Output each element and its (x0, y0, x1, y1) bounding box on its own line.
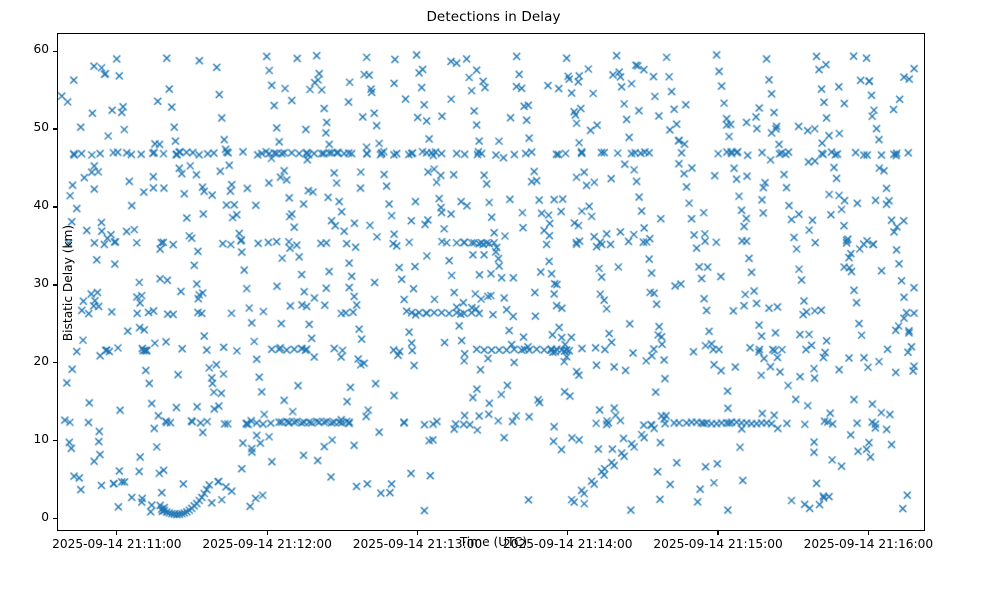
y-tick-label: 10 (33, 432, 49, 446)
y-tick-label: 20 (33, 354, 49, 368)
y-tick-label: 30 (33, 276, 49, 290)
y-tick-label: 40 (33, 198, 49, 212)
y-tick-mark (53, 206, 58, 207)
y-tick-mark (53, 440, 58, 441)
plot-axes: Bistatic Delay (km) 0102030405060 2025-0… (57, 33, 925, 531)
y-tick-label: 0 (41, 510, 49, 524)
y-tick-mark (53, 518, 58, 519)
y-tick-mark (53, 128, 58, 129)
page-title: Detections in Delay (0, 9, 987, 25)
x-axis-label: Time (UTC) (0, 535, 987, 549)
y-tick-mark (53, 51, 58, 52)
matplotlib-figure: Detections in Delay Bistatic Delay (km) … (0, 0, 987, 590)
y-axis-label: Bistatic Delay (km) (61, 33, 75, 533)
y-tick-label: 60 (33, 42, 49, 56)
scatter-plot-canvas (58, 34, 924, 530)
y-tick-mark (53, 362, 58, 363)
y-tick-label: 50 (33, 120, 49, 134)
y-tick-mark (53, 284, 58, 285)
